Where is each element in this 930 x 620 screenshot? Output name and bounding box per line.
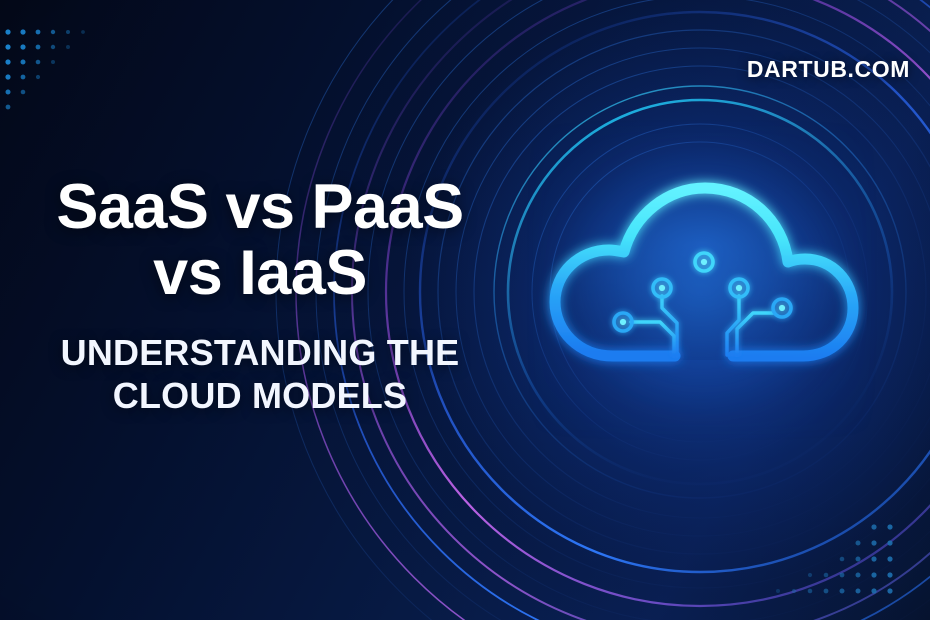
headline-line-1: SaaS vs PaaS	[25, 175, 495, 241]
headline-line-2: vs IaaS	[25, 241, 495, 307]
title-block: SaaS vs PaaS vs IaaS UNDERSTANDING THE C…	[0, 0, 520, 620]
cloud-circuit-svg	[537, 150, 867, 420]
subhead-line-2: CLOUD MODELS	[35, 375, 485, 417]
circuit-trace-tails	[674, 355, 737, 412]
subhead-line-1: UNDERSTANDING THE	[35, 332, 485, 374]
page-title: SaaS vs PaaS vs IaaS	[25, 175, 495, 306]
thumbnail-canvas: DARTUB.COM SaaS vs PaaS vs IaaS UNDERSTA…	[0, 0, 930, 620]
page-subtitle: UNDERSTANDING THE CLOUD MODELS	[35, 332, 485, 416]
cloud-circuit-icon	[537, 150, 867, 420]
brand-watermark: DARTUB.COM	[747, 56, 910, 83]
